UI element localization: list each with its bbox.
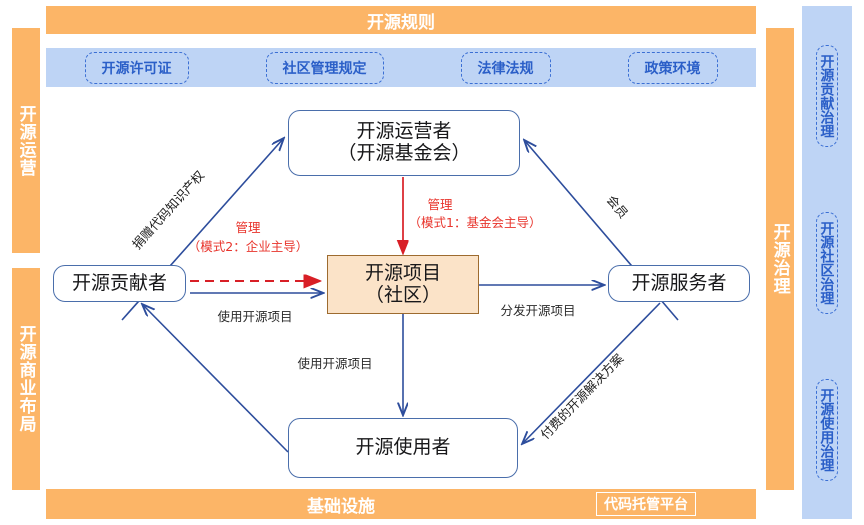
governance-chip-usage[interactable]: 开源使用治理: [816, 379, 839, 481]
node-open-source-operator[interactable]: 开源运营者 （开源基金会）: [288, 110, 520, 176]
edge-service-to-user-paid: [523, 303, 660, 443]
rules-band: 开源许可证 社区管理规定 法律法规 政策环境: [46, 48, 756, 87]
node-operator-label: 开源运营者 （开源基金会）: [337, 121, 470, 165]
node-open-source-project[interactable]: 开源项目 （社区）: [327, 255, 479, 314]
rule-chip-policy[interactable]: 政策环境: [628, 52, 718, 84]
node-open-source-user[interactable]: 开源使用者: [288, 418, 518, 478]
edge-label-manage2-mode: （模式2：企业主导）: [188, 239, 308, 254]
header-open-source-rules: 开源规则: [46, 6, 756, 34]
footer-chip-code-hosting-platform[interactable]: 代码托管平台: [596, 492, 696, 516]
governance-chip-community[interactable]: 开源社区治理: [816, 212, 839, 314]
rail-open-source-operations: 开源运营: [12, 28, 40, 253]
node-project-label: 开源项目 （社区）: [365, 263, 441, 307]
node-contributor-label: 开源贡献者: [72, 273, 167, 295]
edge-label-manage1-mode: （模式1：基金会主导）: [409, 215, 542, 230]
footer-infrastructure: 基础设施 代码托管平台: [46, 489, 756, 519]
diagram-canvas: 开源运营 开源商业布局 开源治理 开源规则 开源许可证 社区管理规定 法律法规 …: [0, 0, 864, 525]
edge-user-to-contributor: [143, 305, 288, 452]
edge-label-donate-ip: 捐赠代码知识产权: [129, 167, 207, 252]
node-user-label: 开源使用者: [355, 437, 450, 459]
edge-label-use-project-top: 使用开源项目: [217, 309, 292, 324]
edge-label-distribute-project: 分发开源项目: [500, 303, 575, 318]
rail-open-source-business-layout: 开源商业布局: [12, 268, 40, 490]
governance-chip-contribution[interactable]: 开源贡献治理: [816, 45, 839, 147]
footer-inner: 基础设施 代码托管平台: [46, 489, 756, 519]
rule-chip-community-rules[interactable]: 社区管理规定: [266, 52, 384, 84]
edge-label-manage1-title: 管理: [427, 197, 453, 212]
edge-label-member: 会员: [604, 192, 632, 221]
node-service-label: 开源服务者: [631, 273, 726, 295]
edge-label-manage2-title: 管理: [235, 220, 261, 235]
rule-chip-license[interactable]: 开源许可证: [85, 52, 189, 84]
rail-open-source-governance: 开源治理: [766, 28, 794, 490]
governance-column: 开源贡献治理 开源社区治理 开源使用治理: [802, 6, 852, 519]
node-open-source-contributor[interactable]: 开源贡献者: [53, 265, 186, 302]
edge-label-use-project-mid: 使用开源项目: [297, 356, 372, 371]
edge-label-paid-solution: 付费的开源解决方案: [537, 350, 626, 442]
rule-chip-laws[interactable]: 法律法规: [461, 52, 551, 84]
node-open-source-service-provider[interactable]: 开源服务者: [608, 265, 750, 302]
